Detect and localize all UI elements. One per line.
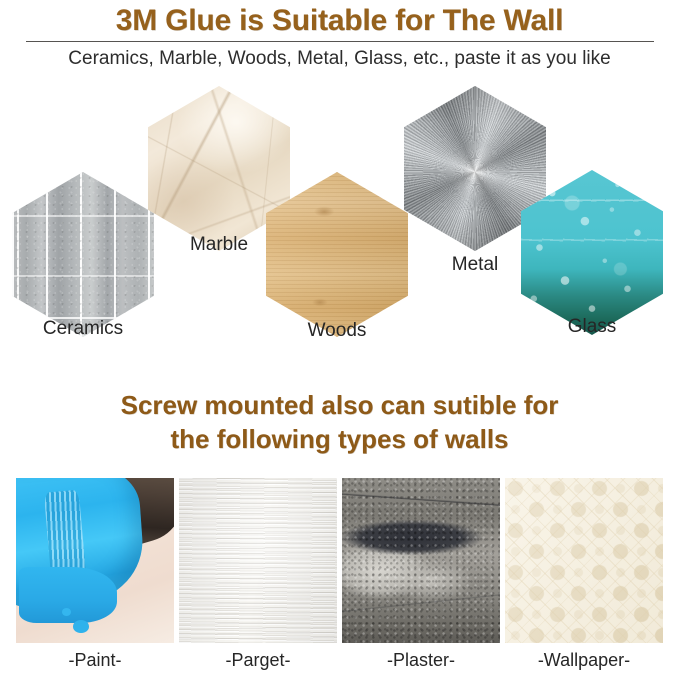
- wall-label-parget: -Parget-: [179, 650, 337, 676]
- wall-panel-plaster[interactable]: [342, 478, 500, 643]
- surface-hexagon-group: Ceramics Marble Woods Metal: [0, 82, 679, 352]
- section-heading: Screw mounted also can sutible for the f…: [0, 388, 679, 456]
- wood-texture: [266, 172, 408, 337]
- plaster-texture: [342, 478, 500, 643]
- wall-label-paint: -Paint-: [16, 650, 174, 676]
- wall-panel-parget[interactable]: [179, 478, 337, 643]
- wall-panel-paint[interactable]: [16, 478, 174, 643]
- wall-label-plaster: -Plaster-: [342, 650, 500, 676]
- wall-panel-wallpaper[interactable]: [505, 478, 663, 643]
- paint-droplet-large: [73, 620, 89, 633]
- ceramics-grout-lines: [12, 172, 154, 337]
- surface-sample-glass[interactable]: [521, 170, 663, 335]
- surface-sample-woods[interactable]: [266, 172, 408, 337]
- ceramics-texture: [12, 172, 154, 337]
- hexagon-woods: [266, 172, 408, 337]
- infographic-page: 3M Glue is Suitable for The Wall Ceramic…: [0, 0, 679, 679]
- page-subtitle: Ceramics, Marble, Woods, Metal, Glass, e…: [0, 48, 679, 70]
- parget-texture: [179, 478, 337, 643]
- wallpaper-texture: [505, 478, 663, 643]
- header-divider: [26, 41, 654, 42]
- surface-label-ceramics: Ceramics: [3, 318, 163, 340]
- page-title: 3M Glue is Suitable for The Wall: [0, 4, 679, 38]
- surface-label-woods: Woods: [257, 320, 417, 342]
- section-heading-line-2: the following types of walls: [0, 422, 679, 456]
- surface-sample-ceramics[interactable]: [12, 172, 154, 337]
- hexagon-ceramics: [12, 172, 154, 337]
- surface-label-glass: Glass: [512, 316, 672, 338]
- wall-type-panel-group: [16, 478, 663, 643]
- glass-texture: [521, 170, 663, 335]
- section-heading-line-1: Screw mounted also can sutible for: [0, 388, 679, 422]
- hexagon-glass: [521, 170, 663, 335]
- wall-label-wallpaper: -Wallpaper-: [505, 650, 663, 676]
- wall-type-label-group: -Paint- -Parget- -Plaster- -Wallpaper-: [16, 650, 663, 676]
- paint-texture: [16, 478, 174, 643]
